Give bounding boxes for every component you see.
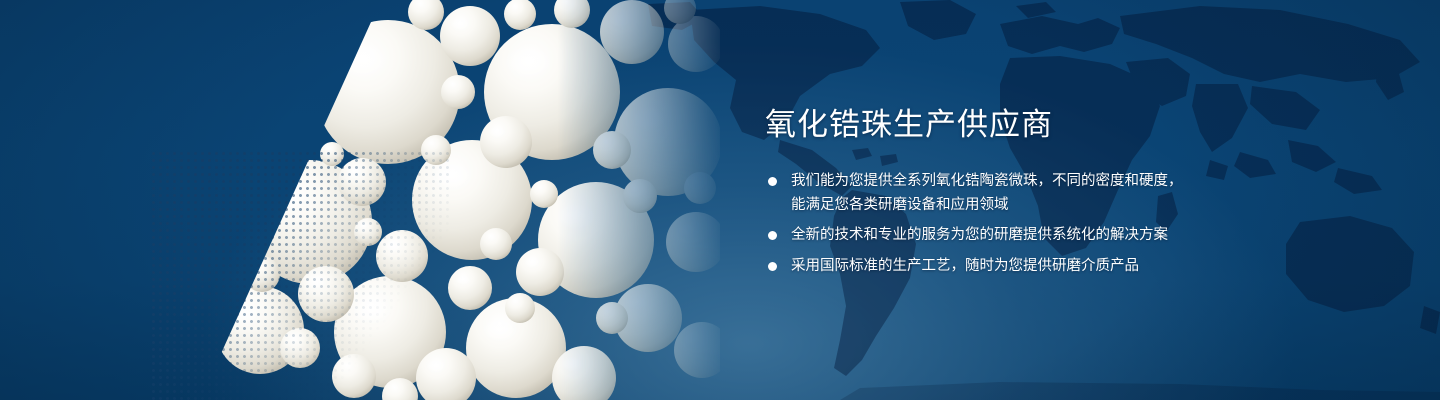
list-item: 我们能为您提供全系列氧化锆陶瓷微珠，不同的密度和硬度， 能满足您各类研磨设备和应… [765,170,1285,217]
list-item: 采用国际标准的生产工艺，随时为您提供研磨介质产品 [765,255,1285,279]
zirconia-beads-product-photo [140,0,720,400]
bullet-text-line: 采用国际标准的生产工艺，随时为您提供研磨介质产品 [791,255,1285,279]
bullet-text-line: 能满足您各类研磨设备和应用领域 [791,194,1285,218]
page-title: 氧化锆珠生产供应商 [765,106,1285,144]
feature-bullet-list: 我们能为您提供全系列氧化锆陶瓷微珠，不同的密度和硬度， 能满足您各类研磨设备和应… [765,170,1285,278]
bullet-dot-icon [768,262,777,271]
banner-text-block: 氧化锆珠生产供应商 我们能为您提供全系列氧化锆陶瓷微珠，不同的密度和硬度， 能满… [765,106,1285,278]
bullet-text-line: 我们能为您提供全系列氧化锆陶瓷微珠，不同的密度和硬度， [791,170,1285,194]
product-hero-banner: 氧化锆珠生产供应商 我们能为您提供全系列氧化锆陶瓷微珠，不同的密度和硬度， 能满… [0,0,1440,400]
bullet-dot-icon [768,231,777,240]
bullet-dot-icon [768,177,777,186]
bullet-text-line: 全新的技术和专业的服务为您的研磨提供系统化的解决方案 [791,224,1285,248]
list-item: 全新的技术和专业的服务为您的研磨提供系统化的解决方案 [765,224,1285,248]
